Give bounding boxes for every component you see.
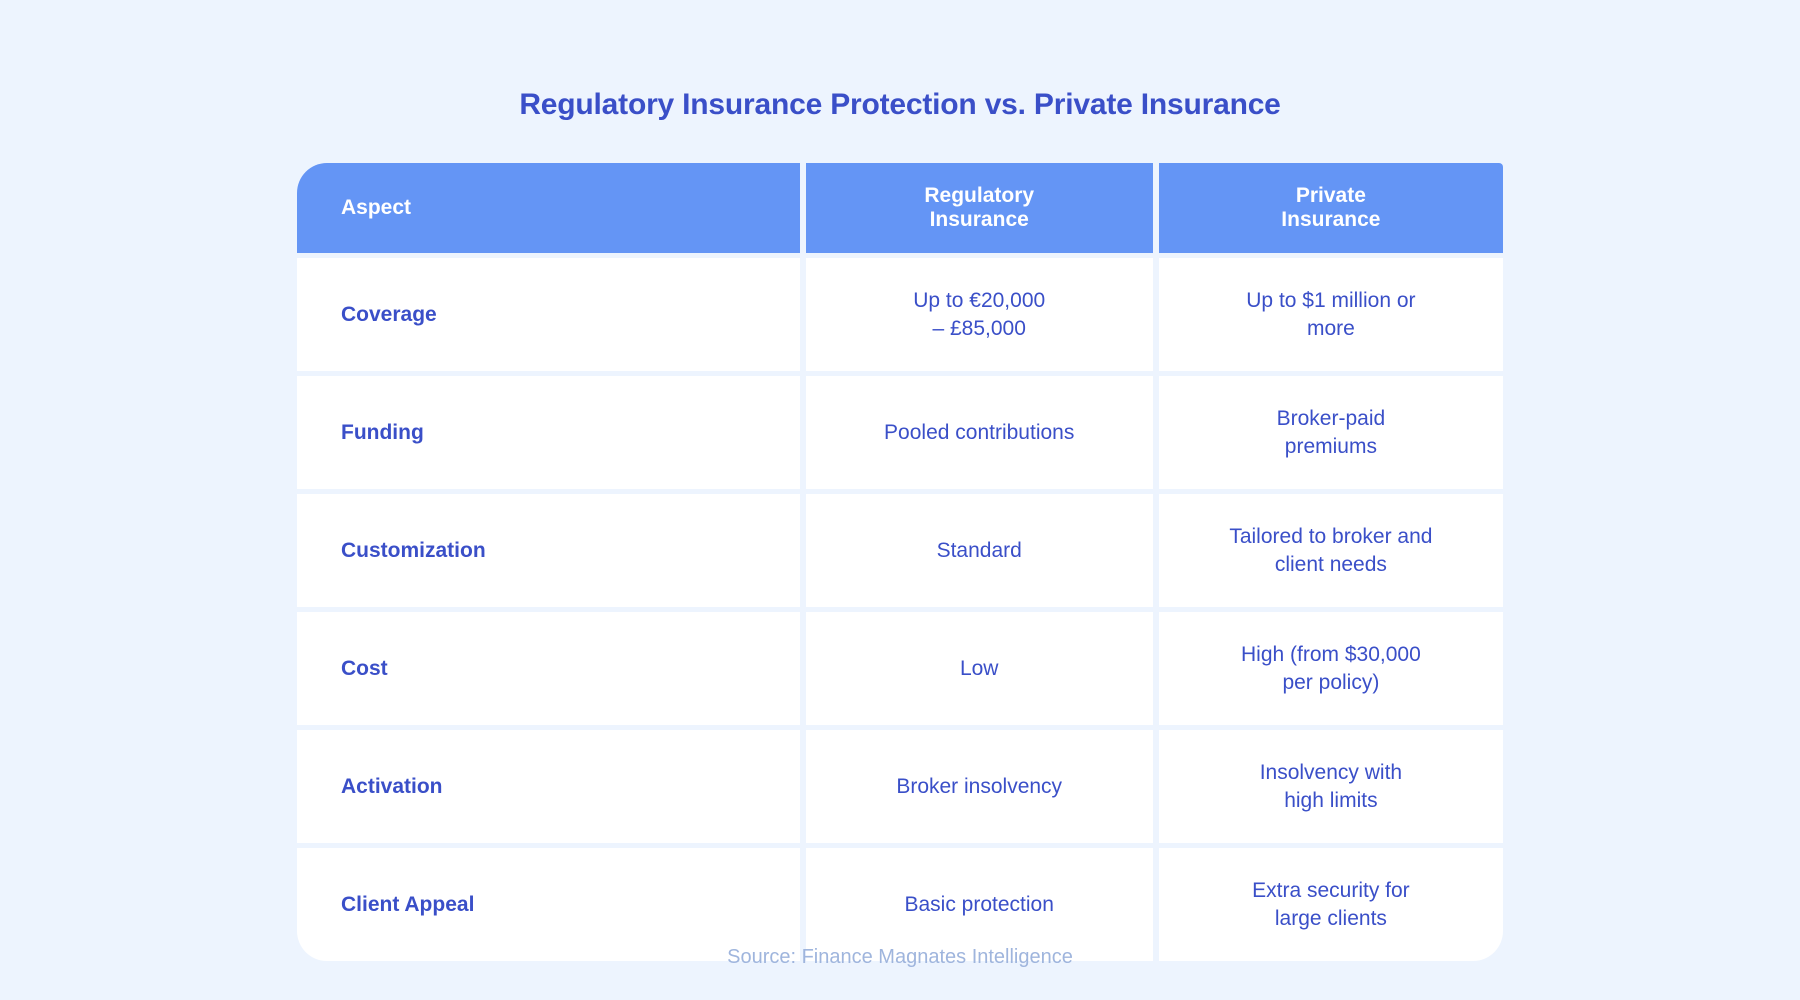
table-header-row: Aspect Regulatory Insurance Private Insu… — [297, 163, 1503, 253]
row-regulatory-cell: Pooled contributions — [806, 376, 1153, 489]
row-private-line2: client needs — [1275, 553, 1387, 576]
row-aspect-label: Cost — [341, 655, 388, 683]
header-label-regulatory-line2: Insurance — [930, 208, 1029, 231]
header-label-private: Private Insurance — [1281, 184, 1380, 233]
header-label-regulatory: Regulatory Insurance — [924, 184, 1034, 233]
row-regulatory-cell: Standard — [806, 494, 1153, 607]
row-regulatory-value: Broker insolvency — [880, 773, 1078, 801]
row-private-cell: Broker-paid premiums — [1159, 376, 1503, 489]
row-private-value: Extra security for large clients — [1236, 877, 1426, 932]
header-label-regulatory-line1: Regulatory — [924, 184, 1034, 207]
table-row: Cost Low High (from $30,000 per policy) — [297, 612, 1503, 725]
row-private-line2: high limits — [1284, 789, 1377, 812]
row-regulatory-cell: Low — [806, 612, 1153, 725]
row-aspect-cell: Cost — [297, 612, 800, 725]
row-private-line2: premiums — [1285, 435, 1377, 458]
table-row: Activation Broker insolvency Insolvency … — [297, 730, 1503, 843]
row-private-line1: High (from $30,000 — [1241, 643, 1421, 666]
header-cell-private-insurance: Private Insurance — [1159, 163, 1503, 253]
table-row: Customization Standard Tailored to broke… — [297, 494, 1503, 607]
row-regulatory-value: Pooled contributions — [868, 419, 1090, 447]
row-regulatory-line1: Low — [960, 657, 999, 680]
row-private-line2: large clients — [1275, 907, 1387, 930]
row-private-cell: Tailored to broker and client needs — [1159, 494, 1503, 607]
row-aspect-cell: Customization — [297, 494, 800, 607]
infographic-canvas: Regulatory Insurance Protection vs. Priv… — [0, 0, 1800, 1000]
row-regulatory-line1: Basic protection — [904, 893, 1053, 916]
row-aspect-cell: Funding — [297, 376, 800, 489]
header-label-private-line1: Private — [1296, 184, 1366, 207]
row-aspect-cell: Client Appeal — [297, 848, 800, 961]
row-regulatory-line1: Broker insolvency — [896, 775, 1062, 798]
header-cell-regulatory-insurance: Regulatory Insurance — [806, 163, 1153, 253]
row-aspect-label: Coverage — [341, 301, 437, 329]
row-regulatory-cell: Up to €20,000 – £85,000 — [806, 258, 1153, 371]
row-aspect-cell: Coverage — [297, 258, 800, 371]
header-cell-aspect: Aspect — [297, 163, 800, 253]
row-aspect-cell: Activation — [297, 730, 800, 843]
row-private-value: Insolvency with high limits — [1244, 759, 1418, 814]
row-regulatory-value: Low — [944, 655, 1015, 683]
row-regulatory-line1: Standard — [937, 539, 1022, 562]
row-regulatory-value: Up to €20,000 – £85,000 — [897, 287, 1061, 342]
row-regulatory-value: Standard — [921, 537, 1038, 565]
row-private-value: Tailored to broker and client needs — [1213, 523, 1448, 578]
comparison-table-wrapper: Aspect Regulatory Insurance Private Insu… — [297, 163, 1503, 961]
table-row: Funding Pooled contributions Broker-paid… — [297, 376, 1503, 489]
header-label-aspect: Aspect — [341, 196, 411, 220]
row-private-cell: Up to $1 million or more — [1159, 258, 1503, 371]
page-title: Regulatory Insurance Protection vs. Priv… — [0, 88, 1800, 122]
row-private-value: High (from $30,000 per policy) — [1225, 641, 1437, 696]
row-regulatory-cell: Broker insolvency — [806, 730, 1153, 843]
row-aspect-label: Funding — [341, 419, 424, 447]
comparison-table: Aspect Regulatory Insurance Private Insu… — [297, 163, 1503, 961]
row-private-cell: High (from $30,000 per policy) — [1159, 612, 1503, 725]
row-private-cell: Insolvency with high limits — [1159, 730, 1503, 843]
row-private-line1: Broker-paid — [1277, 407, 1386, 430]
row-regulatory-line2: – £85,000 — [932, 317, 1025, 340]
row-regulatory-value: Basic protection — [888, 891, 1069, 919]
row-private-line1: Insolvency with — [1260, 761, 1402, 784]
table-row: Client Appeal Basic protection Extra sec… — [297, 848, 1503, 961]
row-private-line1: Up to $1 million or — [1246, 289, 1415, 312]
row-aspect-label: Activation — [341, 773, 443, 801]
table-row: Coverage Up to €20,000 – £85,000 Up to $… — [297, 258, 1503, 371]
row-private-line1: Tailored to broker and — [1229, 525, 1432, 548]
row-private-line2: more — [1307, 317, 1355, 340]
row-private-line1: Extra security for — [1252, 879, 1410, 902]
row-regulatory-cell: Basic protection — [806, 848, 1153, 961]
row-private-line2: per policy) — [1282, 671, 1379, 694]
source-caption: Source: Finance Magnates Intelligence — [0, 946, 1800, 969]
row-regulatory-line1: Up to €20,000 — [913, 289, 1045, 312]
row-aspect-label: Customization — [341, 537, 486, 565]
header-label-private-line2: Insurance — [1281, 208, 1380, 231]
row-private-value: Up to $1 million or more — [1230, 287, 1431, 342]
row-private-value: Broker-paid premiums — [1261, 405, 1402, 460]
row-aspect-label: Client Appeal — [341, 891, 474, 919]
row-regulatory-line1: Pooled contributions — [884, 421, 1074, 444]
row-private-cell: Extra security for large clients — [1159, 848, 1503, 961]
